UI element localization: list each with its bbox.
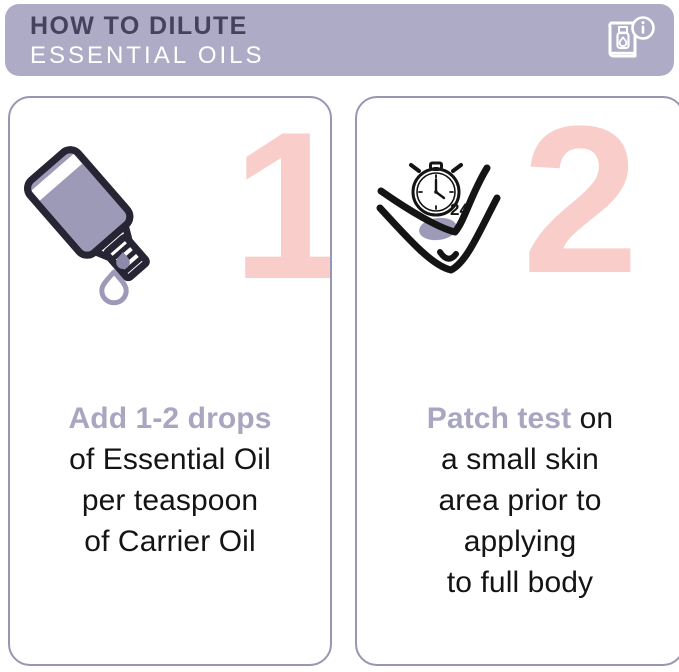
oil-bottle-info-icon (602, 13, 656, 67)
step-1-line-1: of Essential Oil (10, 439, 330, 480)
page-subtitle: ESSENTIAL OILS (30, 41, 265, 71)
header-bar: HOW TO DILUTE ESSENTIAL OILS (5, 4, 674, 76)
step-1-line-3: of Carrier Oil (10, 521, 330, 562)
step-1-artwork: 1 (10, 98, 330, 398)
step-2-line-2: area prior to (357, 480, 679, 521)
steps-container: 1 (0, 96, 679, 672)
step-2-highlight-suffix: on (571, 402, 613, 435)
step-1-number: 1 (232, 106, 332, 306)
stopwatch-icon: 24 (411, 163, 469, 219)
step-1-highlight: Add 1-2 drops (10, 398, 330, 439)
stopwatch-hours-label: 24 (450, 200, 469, 219)
step-2-line-3: applying (357, 521, 679, 562)
oil-bottle-dripping-icon (24, 132, 174, 317)
step-2-line-4: to full body (357, 562, 679, 603)
step-card-1: 1 (8, 96, 332, 666)
step-1-text: Add 1-2 drops of Essential Oil per teasp… (10, 398, 330, 562)
header-title-group: HOW TO DILUTE ESSENTIAL OILS (30, 11, 265, 71)
step-2-text: Patch test on a small skin area prior to… (357, 398, 679, 603)
step-1-line-2: per teaspoon (10, 480, 330, 521)
step-2-highlight: Patch test on (357, 398, 679, 439)
page-title: HOW TO DILUTE (30, 11, 265, 41)
step-2-line-1: a small skin (357, 439, 679, 480)
step-2-artwork: 2 (357, 98, 679, 398)
arm-patch-test-stopwatch-icon: 24 (367, 136, 557, 291)
step-card-2: 2 (355, 96, 679, 666)
